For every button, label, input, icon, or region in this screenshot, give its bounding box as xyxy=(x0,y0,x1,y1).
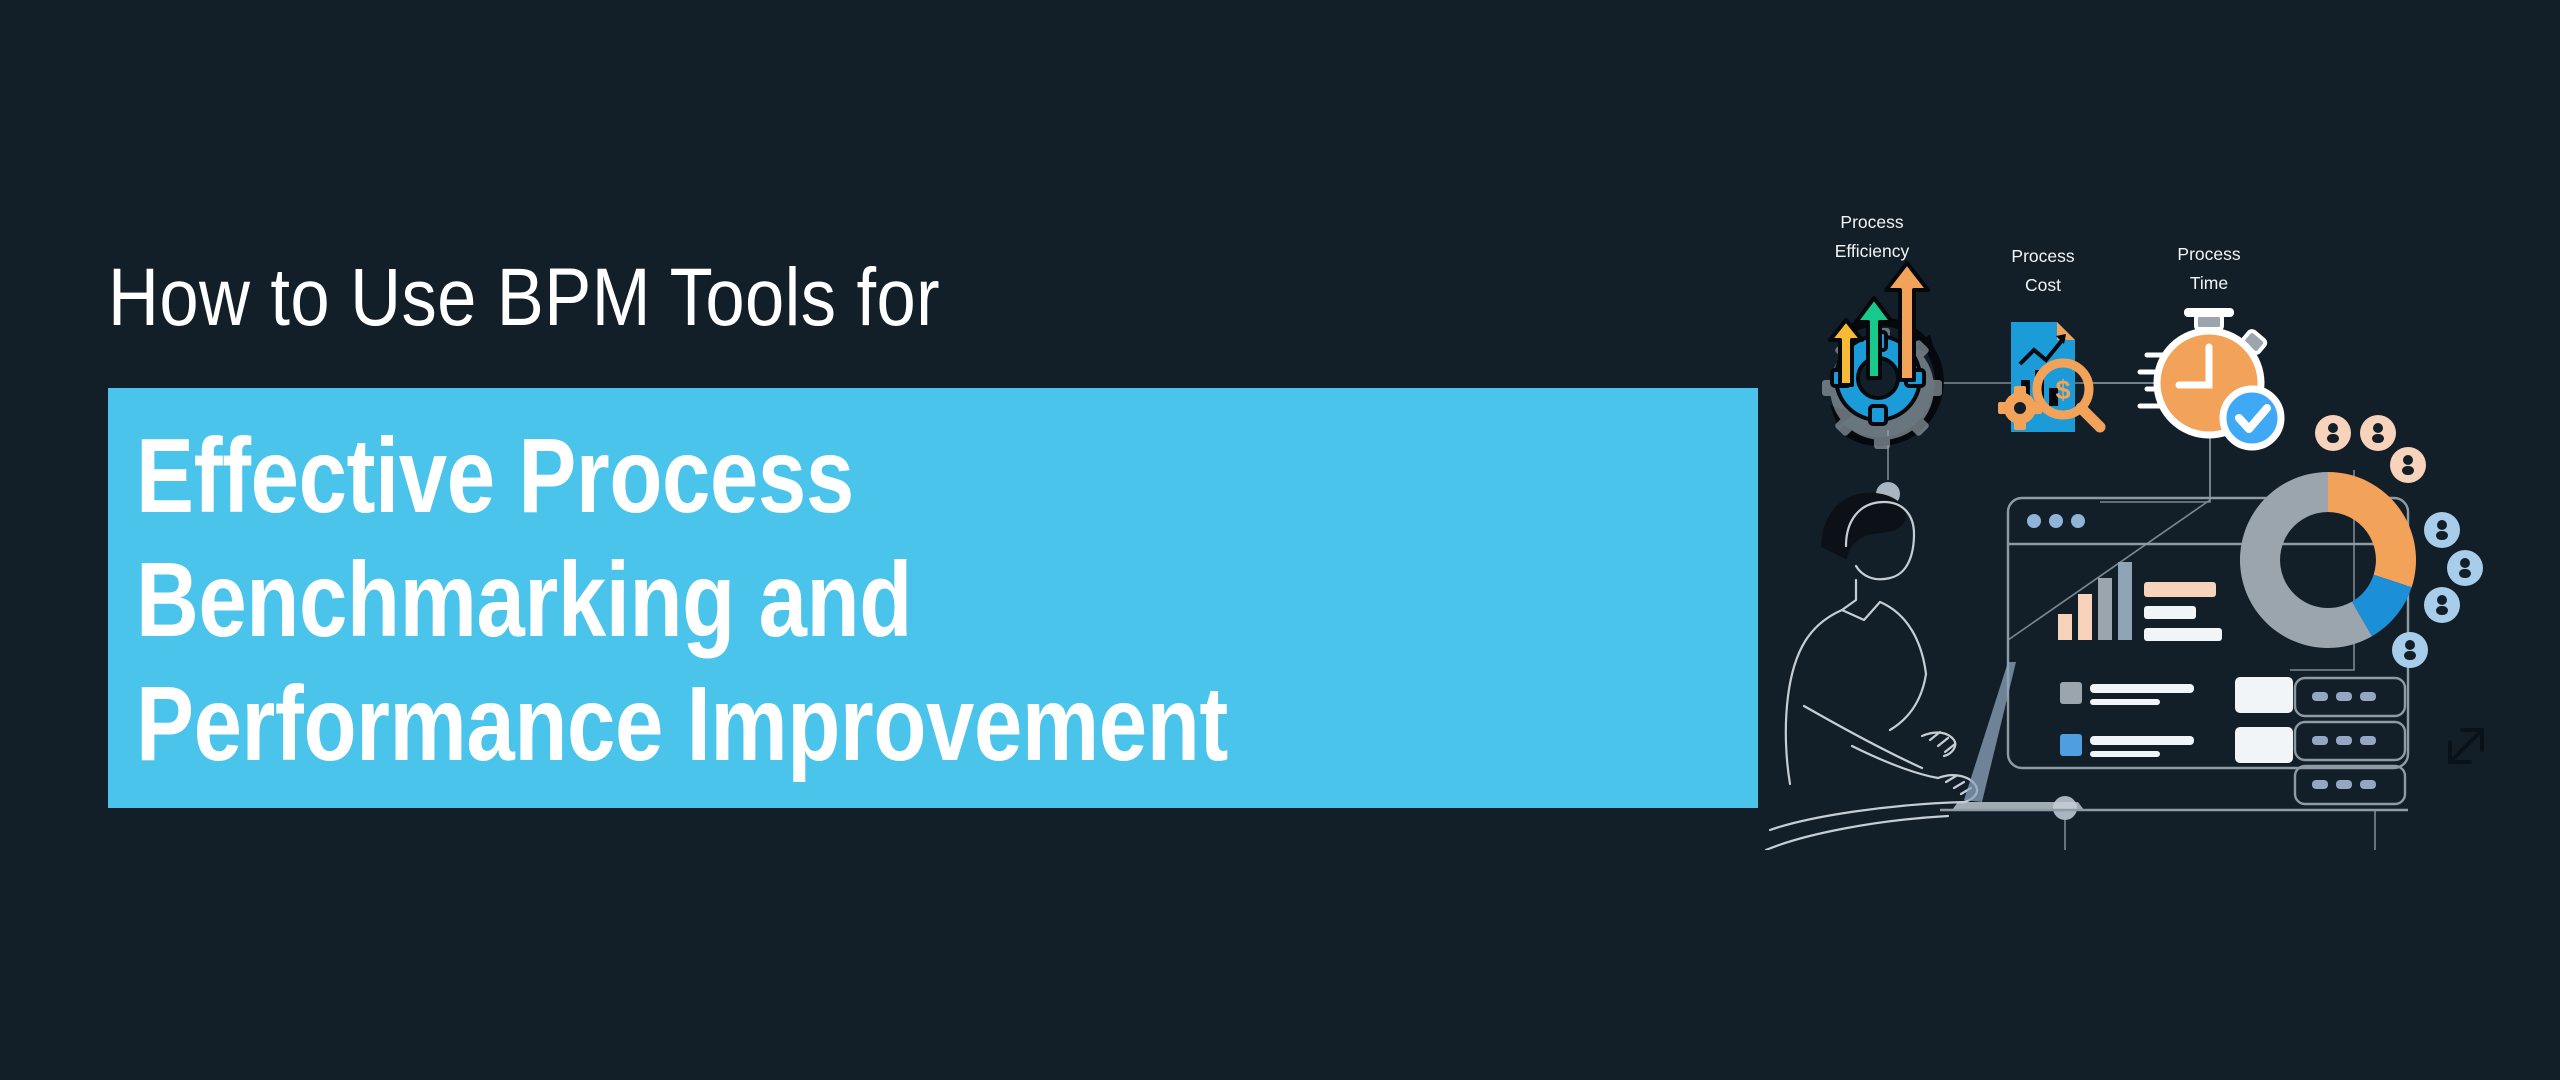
document-dollar-magnifier-icon: $ xyxy=(1998,322,2100,432)
mini-text-lines xyxy=(2144,582,2222,641)
dollar-sign-glyph: $ xyxy=(2055,375,2070,405)
metric-process-cost: Process Cost $ xyxy=(1998,246,2100,432)
mini-bar-chart xyxy=(2058,562,2132,640)
expand-arrows-icon[interactable] xyxy=(2450,730,2482,762)
donut-segment-orange xyxy=(2328,472,2416,587)
metric-label-efficiency-line2: Efficiency xyxy=(1835,241,1910,261)
server-stack xyxy=(2295,678,2405,804)
donut-chart xyxy=(2240,472,2416,648)
metric-label-time-line1: Process xyxy=(2177,244,2240,264)
metric-label-time-line2: Time xyxy=(2190,273,2228,293)
metric-label-cost-line2: Cost xyxy=(2025,275,2061,295)
mini-card-1 xyxy=(2235,677,2293,713)
hero-banner: How to Use BPM Tools for Effective Proce… xyxy=(0,0,2560,1080)
hero-text-block: How to Use BPM Tools for xyxy=(108,252,1768,388)
metric-process-efficiency: Process Efficiency xyxy=(1822,212,1942,449)
headline-line-1: Effective Process xyxy=(136,414,1466,538)
metric-process-time: Process Time xyxy=(2140,244,2281,447)
browser-window-dots xyxy=(2027,514,2085,528)
mini-list-rows xyxy=(2060,682,2194,757)
page-title-eyebrow: How to Use BPM Tools for xyxy=(108,252,1536,344)
gear-growth-arrows-icon xyxy=(1822,263,1942,449)
metric-label-cost-line1: Process xyxy=(2011,246,2074,266)
mini-card-2 xyxy=(2235,727,2293,763)
stopwatch-check-icon xyxy=(2140,308,2281,447)
metric-label-efficiency-line1: Process xyxy=(1840,212,1903,232)
headline-line-2: Benchmarking and xyxy=(136,538,1466,662)
bpm-illustration: Process Efficiency xyxy=(1760,150,2560,850)
person-at-laptop xyxy=(1766,494,1977,850)
headline-banner: Effective Process Benchmarking and Perfo… xyxy=(108,388,1758,808)
headline-line-3: Performance Improvement xyxy=(136,662,1466,786)
